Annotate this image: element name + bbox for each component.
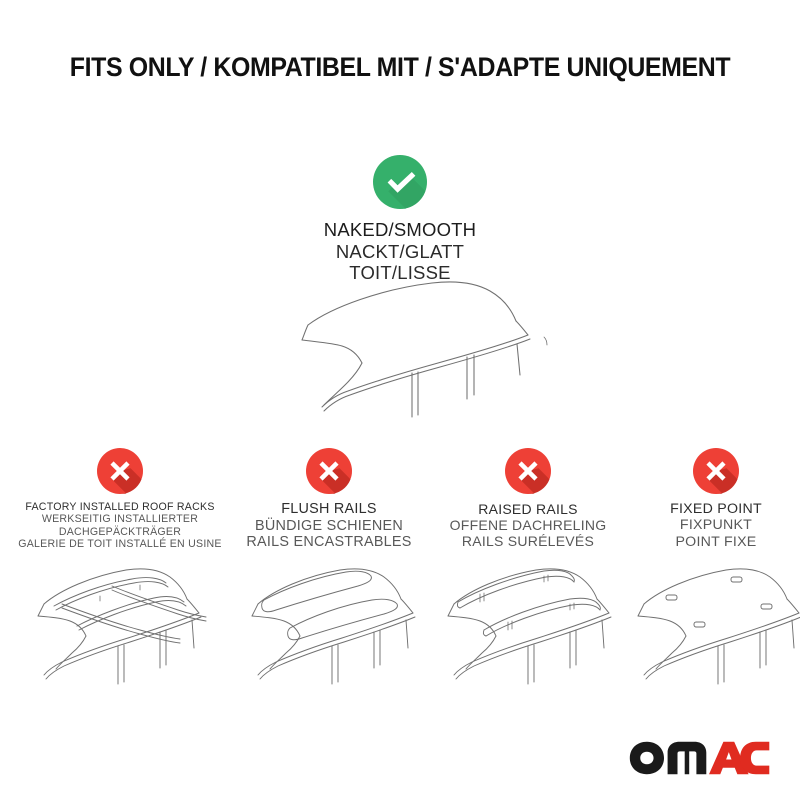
car-roof-fixed-point-illustration bbox=[614, 552, 800, 692]
label-de: FIXPUNKT bbox=[632, 517, 800, 533]
label-en: FACTORY INSTALLED ROOF RACKS bbox=[8, 501, 232, 513]
label-de-line2: DACHGEPÄCKTRÄGER bbox=[8, 526, 232, 538]
page-title: FITS ONLY / KOMPATIBEL MIT / S'ADAPTE UN… bbox=[24, 52, 776, 83]
x-circle-icon bbox=[693, 448, 739, 494]
label-en: RAISED RAILS bbox=[428, 501, 628, 517]
incompatible-labels: RAISED RAILS OFFENE DACHRELING RAILS SUR… bbox=[428, 501, 628, 550]
compatible-label-en: NAKED/SMOOTH bbox=[250, 219, 550, 241]
incompatible-labels: FLUSH RAILS BÜNDIGE SCHIENEN RAILS ENCAS… bbox=[234, 501, 424, 551]
label-fr: GALERIE DE TOIT INSTALLÉ EN USINE bbox=[8, 538, 232, 550]
incompatible-item-fixed-point: FIXED POINT FIXPUNKT POINT FIXE bbox=[632, 448, 800, 550]
car-roof-flush-rails-illustration bbox=[228, 552, 438, 692]
incompatible-item-raised-rails: RAISED RAILS OFFENE DACHRELING RAILS SUR… bbox=[428, 448, 628, 550]
label-de: BÜNDIGE SCHIENEN bbox=[234, 518, 424, 535]
car-roof-naked-smooth-illustration bbox=[262, 277, 562, 437]
label-en: FLUSH RAILS bbox=[234, 501, 424, 518]
x-circle-icon bbox=[97, 448, 143, 494]
incompatible-item-factory-installed-roof-racks: FACTORY INSTALLED ROOF RACKS WERKSEITIG … bbox=[8, 448, 232, 550]
check-circle-icon bbox=[373, 155, 427, 209]
car-roof-factory-racks-illustration bbox=[14, 552, 224, 692]
x-circle-icon bbox=[505, 448, 551, 494]
incompatible-labels: FACTORY INSTALLED ROOF RACKS WERKSEITIG … bbox=[8, 501, 232, 550]
label-fr: RAILS ENCASTRABLES bbox=[234, 534, 424, 551]
car-roof-raised-rails-illustration bbox=[424, 552, 634, 692]
label-de: OFFENE DACHRELING bbox=[428, 517, 628, 533]
incompatible-labels: FIXED POINT FIXPUNKT POINT FIXE bbox=[632, 501, 800, 550]
label-de-line1: WERKSEITIG INSTALLIERTER bbox=[8, 513, 232, 525]
label-fr: POINT FIXE bbox=[632, 534, 800, 550]
compatible-roof-type-block: NAKED/SMOOTH NACKT/GLATT TOIT/LISSE bbox=[250, 155, 550, 284]
compatible-labels: NAKED/SMOOTH NACKT/GLATT TOIT/LISSE bbox=[250, 219, 550, 284]
x-circle-icon bbox=[306, 448, 352, 494]
label-en: FIXED POINT bbox=[632, 501, 800, 517]
compatible-label-de: NACKT/GLATT bbox=[250, 241, 550, 263]
omac-logo bbox=[628, 740, 772, 776]
incompatible-item-flush-rails: FLUSH RAILS BÜNDIGE SCHIENEN RAILS ENCAS… bbox=[234, 448, 424, 551]
label-fr: RAILS SURÉLEVÉS bbox=[428, 533, 628, 549]
